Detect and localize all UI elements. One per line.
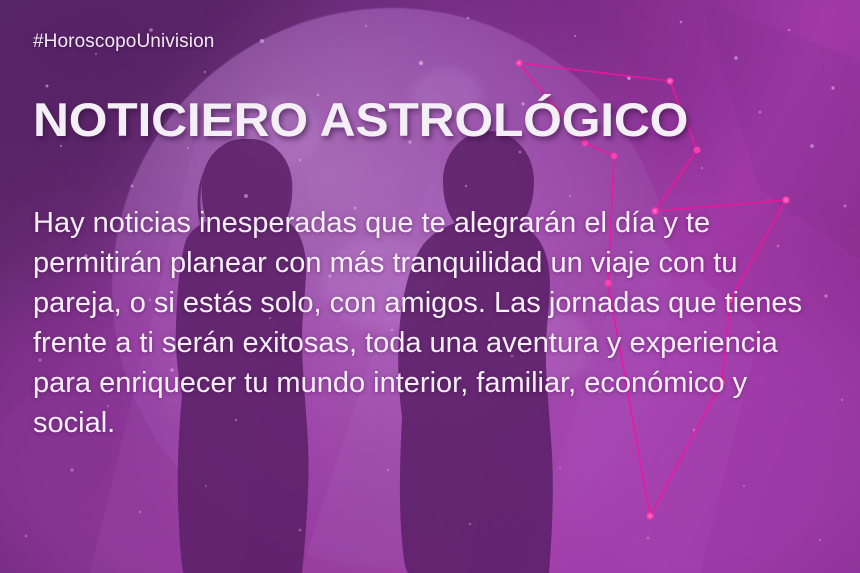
hashtag-label: #HoroscopoUnivision: [33, 31, 214, 53]
horoscope-body-text: Hay noticias inesperadas que te alegrará…: [33, 203, 828, 443]
page-title: NOTICIERO ASTROLÓGICO: [33, 92, 688, 147]
horoscope-card: #HoroscopoUnivision NOTICIERO ASTROLÓGIC…: [0, 0, 860, 573]
